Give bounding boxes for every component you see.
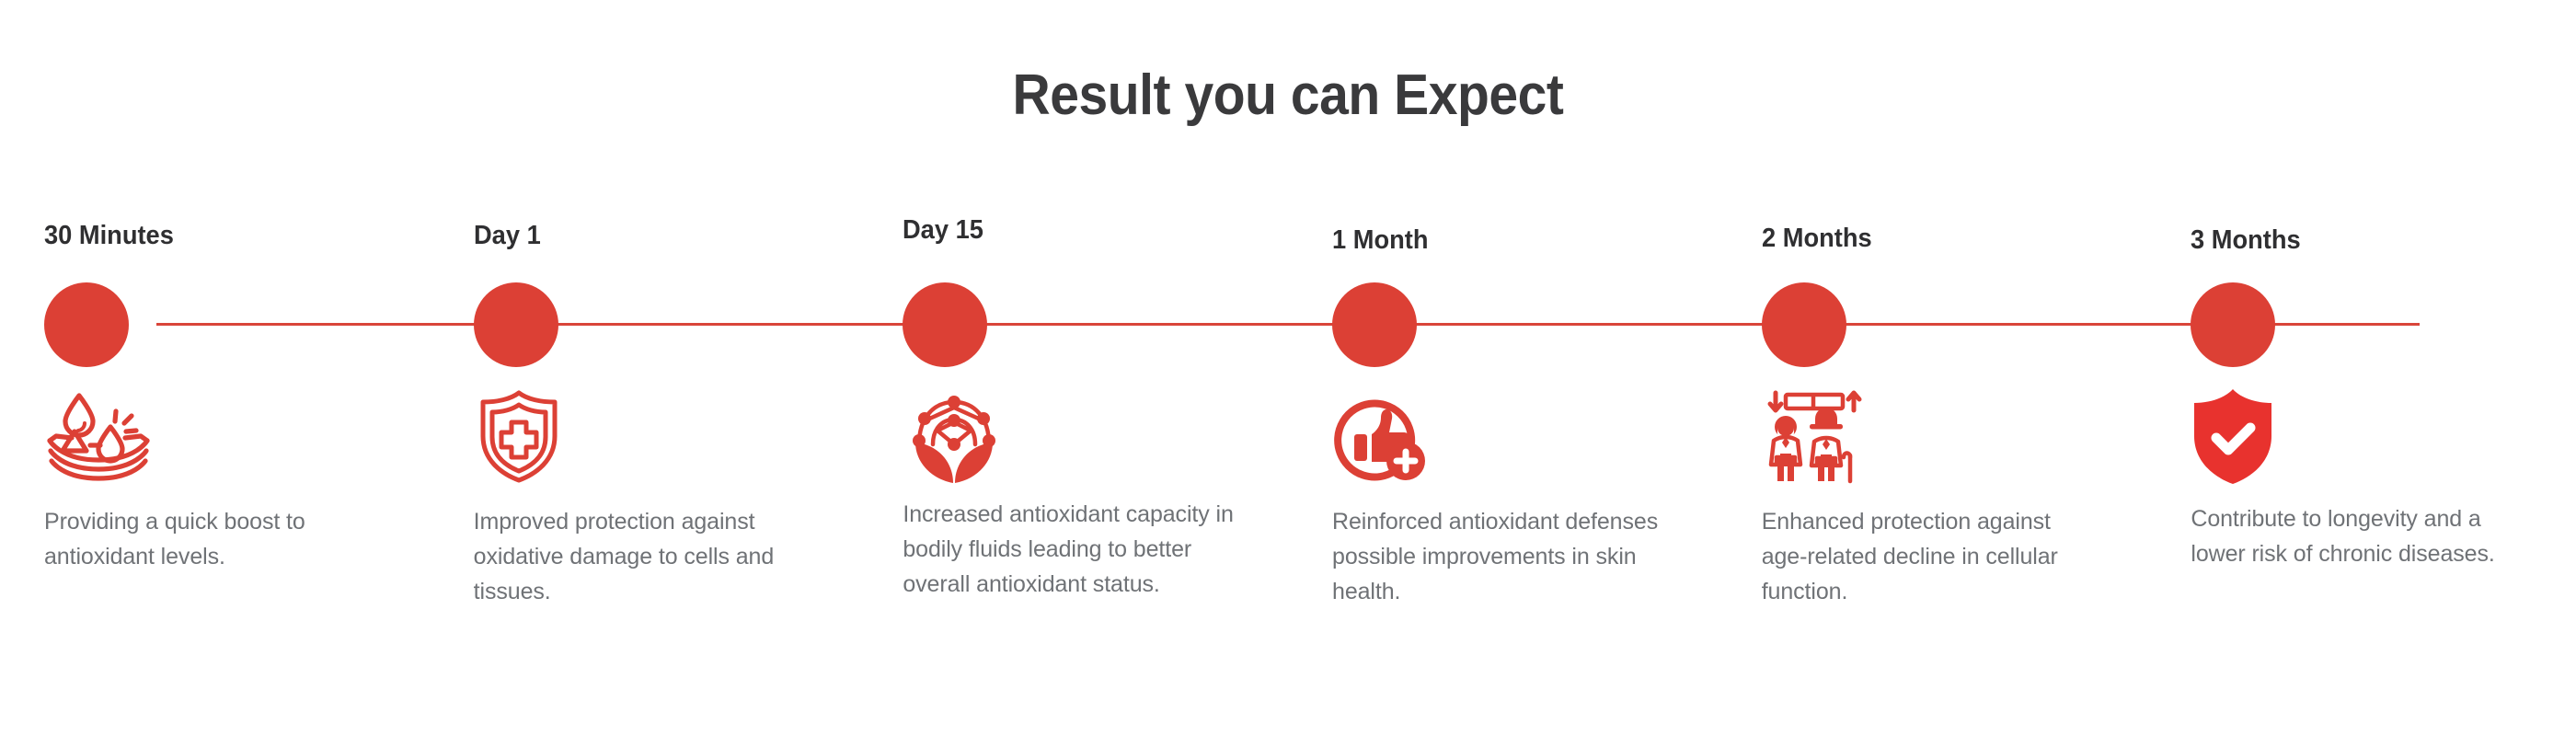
- timeline-item-day-1[interactable]: Day 1 Improved protection against oxidat…: [430, 0, 859, 736]
- timeline-label: 30 Minutes: [44, 221, 329, 251]
- timeline-description: Increased antioxidant capacity in bodily…: [903, 497, 1243, 602]
- timeline-item-day-15[interactable]: Day 15: [858, 0, 1288, 736]
- elderly-couple-measure-icon: [1762, 385, 1900, 488]
- timeline-description: Providing a quick boost to antioxidant l…: [44, 504, 385, 574]
- timeline-node-dot[interactable]: [1762, 282, 1846, 367]
- molecule-leaves-icon: [903, 385, 1041, 488]
- timeline-node-dot[interactable]: [474, 282, 558, 367]
- timeline-description: Reinforced antioxidant defenses possible…: [1332, 504, 1673, 609]
- timeline-description: Improved protection against oxidative da…: [474, 504, 814, 609]
- timeline-label: Day 15: [903, 215, 1188, 246]
- timeline-label: Day 1: [474, 221, 759, 251]
- timeline: 30 Minutes: [0, 0, 2576, 736]
- timeline-label: 2 Months: [1762, 224, 2047, 254]
- water-droplets-skin-layers-icon: [44, 385, 182, 488]
- timeline-node-dot[interactable]: [44, 282, 129, 367]
- timeline-node-dot[interactable]: [2191, 282, 2275, 367]
- timeline-item-list: 30 Minutes: [0, 0, 2576, 736]
- thumbs-up-plus-icon: [1332, 385, 1470, 488]
- timeline-item-3-months[interactable]: 3 Months Contribute to longevity and a l…: [2146, 0, 2576, 736]
- timeline-label: 3 Months: [2191, 225, 2476, 256]
- timeline-item-1-month[interactable]: 1 Month Reinforced antioxidant defenses …: [1288, 0, 1718, 736]
- timeline-item-30-minutes[interactable]: 30 Minutes: [0, 0, 430, 736]
- shield-medical-cross-icon: [474, 385, 612, 488]
- timeline-node-dot[interactable]: [903, 282, 987, 367]
- timeline-node-dot[interactable]: [1332, 282, 1417, 367]
- timeline-label: 1 Month: [1332, 225, 1617, 256]
- timeline-description: Contribute to longevity and a lower risk…: [2191, 501, 2531, 571]
- timeline-description: Enhanced protection against age-related …: [1762, 504, 2102, 609]
- shield-check-icon: [2191, 385, 2329, 488]
- timeline-item-2-months[interactable]: 2 Months: [1718, 0, 2147, 736]
